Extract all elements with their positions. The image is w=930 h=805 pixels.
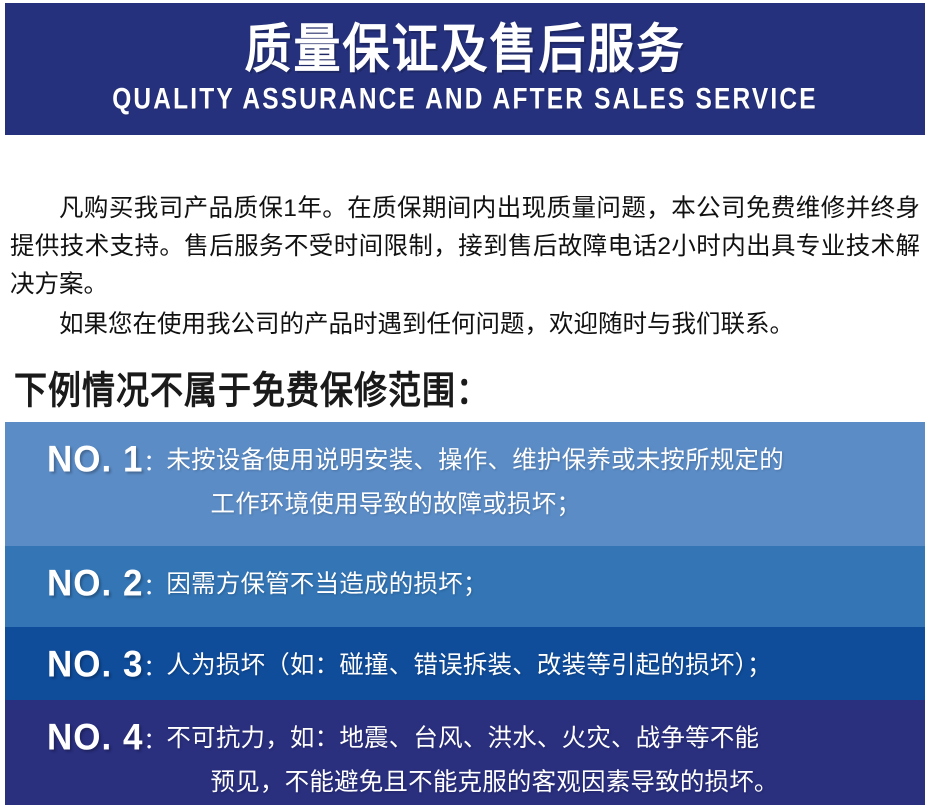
warranty-description: 凡购买我司产品质保1年。在质保期间内出现质量问题，本公司免费维修并终身提供技术支… bbox=[10, 190, 920, 344]
exclusion-list: NO. 1 ： 未按设备使用说明安装、操作、维护保养或未按所规定的 工作环境使用… bbox=[5, 422, 925, 805]
clause-separator: ： bbox=[143, 714, 166, 763]
banner-title-chinese: 质量保证及售后服务 bbox=[245, 21, 686, 76]
exclusions-heading: 下例情况不属于免费保修范围： bbox=[14, 360, 490, 415]
header-banner: 质量保证及售后服务 QUALITY ASSURANCE AND AFTER SA… bbox=[5, 3, 925, 135]
clause-text-line1: 不可抗力，如：地震、台风、洪水、火灾、战争等不能 bbox=[166, 725, 759, 752]
clause-separator: ： bbox=[143, 641, 166, 690]
banner-title-english: QUALITY ASSURANCE AND AFTER SALES SERVIC… bbox=[112, 83, 818, 117]
clause-text-line1: 人为损坏（如：碰撞、错误拆装、改装等引起的损坏）； bbox=[166, 652, 771, 679]
clause-number: NO. 2 bbox=[47, 559, 143, 608]
list-item: NO. 3 ： 人为损坏（如：碰撞、错误拆装、改装等引起的损坏）； bbox=[5, 627, 925, 700]
warranty-paragraph-2: 如果您在使用我公司的产品时遇到任何问题，欢迎随时与我们联系。 bbox=[10, 306, 920, 344]
clause-text: 不可抗力，如：地震、台风、洪水、火灾、战争等不能 预见，不能避免且不能克服的客观… bbox=[166, 714, 911, 805]
clause-number: NO. 4 bbox=[47, 713, 143, 762]
list-item: NO. 1 ： 未按设备使用说明安装、操作、维护保养或未按所规定的 工作环境使用… bbox=[5, 422, 925, 546]
clause-text: 人为损坏（如：碰撞、错误拆装、改装等引起的损坏）； bbox=[166, 641, 911, 688]
clause-text-line1: 因需方保管不当造成的损坏； bbox=[166, 571, 487, 598]
clause-text-line2: 预见，不能避免且不能克服的客观因素导致的损坏。 bbox=[166, 761, 911, 805]
warranty-paragraph-1: 凡购买我司产品质保1年。在质保期间内出现质量问题，本公司免费维修并终身提供技术支… bbox=[10, 190, 920, 304]
clause-text-line1: 未按设备使用说明安装、操作、维护保养或未按所规定的 bbox=[166, 447, 784, 474]
list-item: NO. 2 ： 因需方保管不当造成的损坏； bbox=[5, 546, 925, 627]
clause-text: 未按设备使用说明安装、操作、维护保养或未按所规定的 工作环境使用导致的故障或损坏… bbox=[166, 436, 911, 527]
clause-separator: ： bbox=[143, 436, 166, 485]
list-item: NO. 4 ： 不可抗力，如：地震、台风、洪水、火灾、战争等不能 预见，不能避免… bbox=[5, 700, 925, 805]
clause-text-line2: 工作环境使用导致的故障或损坏； bbox=[166, 483, 911, 527]
clause-number: NO. 3 bbox=[47, 640, 143, 689]
clause-text: 因需方保管不当造成的损坏； bbox=[166, 560, 911, 607]
clause-number: NO. 1 bbox=[47, 435, 143, 484]
clause-separator: ： bbox=[143, 560, 166, 609]
